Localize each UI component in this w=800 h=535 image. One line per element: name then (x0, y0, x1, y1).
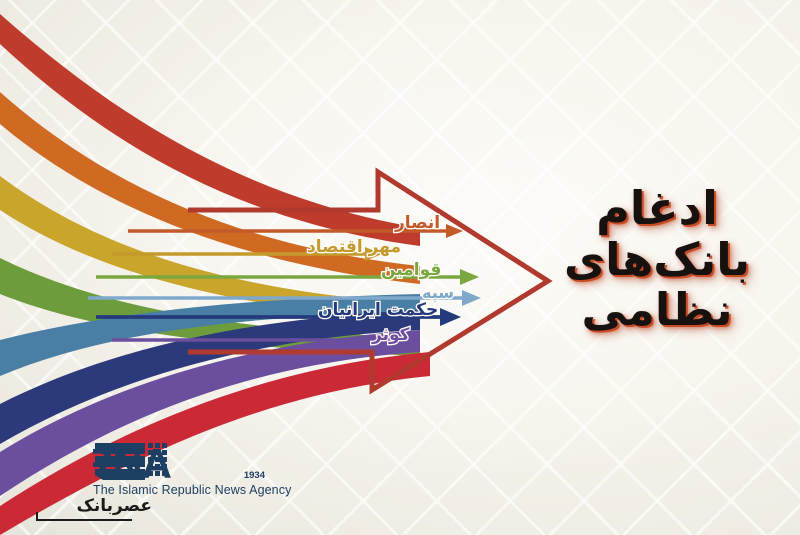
watermark-tick (36, 512, 38, 521)
irna-year: 1934 (244, 470, 266, 481)
headline-line-2: بانک‌های (532, 235, 782, 285)
irna-tagline: The Islamic Republic News Agency (93, 483, 298, 497)
bank-label-hekmat-iranian: حکمت ایرانیان (318, 302, 438, 319)
bank-label-kosar: کوثر (372, 327, 410, 344)
bank-label-sepah: سپه (422, 285, 454, 301)
headline: ادغام بانک‌های نظامی (532, 183, 782, 335)
watermark: عصربانک (32, 498, 154, 528)
watermark-text: عصربانک (77, 496, 153, 516)
irna-logo: IRNA 1934 The Islamic Republic News Agen… (93, 437, 298, 497)
infographic-canvas: انصار مهر اقتصاد قوامین سپه حکمت ایرانیا… (0, 0, 800, 535)
bank-label-ansar: انصار (395, 215, 440, 232)
irna-wordmark: IRNA 1934 (93, 437, 298, 483)
irna-wordmark-text: IRNA (93, 440, 172, 483)
headline-line-1: ادغام (532, 183, 782, 235)
bank-label-ghavamin: قوامین (381, 262, 441, 279)
watermark-rule (36, 519, 132, 521)
bank-label-mehr-eqtesad: مهر اقتصاد (307, 239, 401, 256)
headline-line-3: نظامی (532, 285, 782, 335)
